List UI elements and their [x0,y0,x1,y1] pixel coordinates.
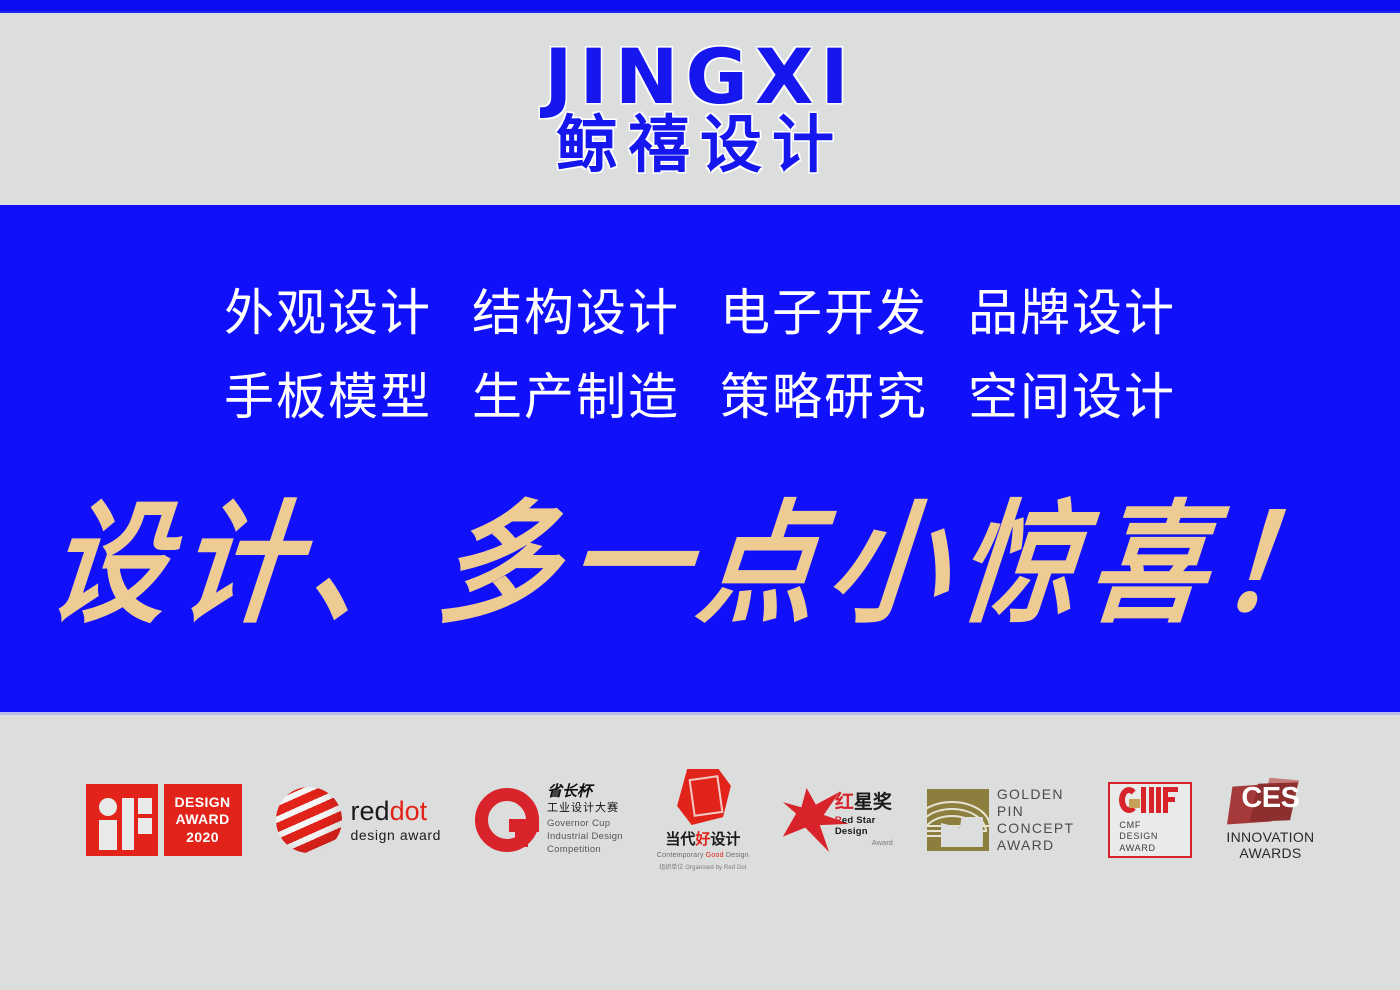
service-item: 电子开发 [720,285,928,343]
if-award-text: DESIGN AWARD 2020 [164,784,242,856]
slogan-block: 设计、多一点小惊喜！ [0,505,1400,623]
governor-cup-cn-title: 省长杯 [547,783,623,801]
cgd-en-c: Design [724,852,749,859]
award-logo-reddot-design-award: reddot design award [276,770,441,870]
award-logo-governor-cup: 省长杯 工业设计大赛 Governor Cup Industrial Desig… [475,770,623,870]
governor-cup-en-1: Governor Cup [547,818,623,831]
governor-cup-en-2: Industrial Design [547,831,623,844]
service-item: 策略研究 [720,369,928,427]
service-item: 手板模型 [224,369,432,427]
cgd-cn-b: 好 [695,831,710,848]
if-line-3: 2020 [186,829,219,846]
ces-line-1: INNOVATION [1226,829,1314,845]
redstar-cn-b: 星奖 [854,792,892,813]
goldenpin-line-4: AWARD [997,837,1075,854]
service-row-2: 手板模型 生产制造 策略研究 空间设计 [224,369,1176,427]
governor-cup-g-icon [475,788,539,852]
main-blue-panel: 外观设计 结构设计 电子开发 品牌设计 手板模型 生产制造 策略研究 空间设计 … [0,205,1400,712]
brand-name-chinese: 鲸禧设计 [556,114,844,176]
service-item: 空间设计 [968,369,1176,427]
reddot-name-dot: dot [390,796,428,826]
brand-name-latin: JINGXI [544,42,855,112]
cgd-seal-icon [675,769,731,825]
service-item: 生产制造 [472,369,680,427]
service-list: 外观设计 结构设计 电子开发 品牌设计 手板模型 生产制造 策略研究 空间设计 [0,285,1400,426]
goldenpin-line-3: CONCEPT [997,820,1075,837]
ces-logo-text: CES [1228,784,1312,813]
redstar-cn-a: 红 [835,792,854,813]
service-item: 结构设计 [472,285,680,343]
slogan-calligraphy: 设计、多一点小惊喜！ [43,498,1357,630]
governor-cup-cn-subtitle: 工业设计大赛 [547,802,623,815]
cmf-monogram-icon [1119,786,1190,814]
redstar-en-a: R [835,815,842,826]
cgd-en-b: Good [706,852,724,859]
service-item: 品牌设计 [968,285,1176,343]
top-blue-rule [0,0,1400,11]
redstar-en-b: ed Star Design [835,815,876,837]
redstar-en-sub: Award [835,839,893,848]
reddot-subtitle: design award [351,828,441,843]
poster-canvas: JINGXI 鲸禧设计 外观设计 结构设计 电子开发 品牌设计 手板模型 生产制… [0,0,1400,990]
cgd-cn-a: 当代 [665,831,695,848]
award-logo-ces-innovation-awards: CES INNOVATION AWARDS [1226,770,1314,870]
brand-header: JINGXI 鲸禧设计 [0,13,1400,205]
award-logo-contemporary-good-design: 当代好设计 Contemporary Good Design 组织单位 Orga… [657,770,749,870]
cmf-line-1: CMF [1119,820,1190,831]
service-item: 外观设计 [224,285,432,343]
service-row-1: 外观设计 结构设计 电子开发 品牌设计 [224,285,1176,343]
cgd-en-a: Contemporary [657,852,706,859]
cgd-organiser-line: 组织单位 Organised by Red Dot [659,862,747,871]
blue-panel-bottom-edge [0,712,1400,715]
ces-line-2: AWARDS [1226,845,1314,861]
goldenpin-line-1: GOLDEN [997,786,1075,803]
award-logo-if-design-award: DESIGN AWARD 2020 [86,770,242,870]
if-line-2: AWARD [175,811,229,828]
golden-pin-square-icon [927,789,989,851]
ces-shards-icon: CES [1228,779,1312,825]
award-logo-cmf-design-award: CMF DESIGN AWARD [1108,770,1192,870]
cmf-line-2: DESIGN AWARD [1119,831,1190,854]
governor-cup-en-3: Competition [547,844,623,857]
award-logo-red-star-design-award: 红星奖 Red Star Design Award [783,770,893,870]
if-monogram-icon [86,784,158,856]
cgd-cn-c: 设计 [710,831,740,848]
reddot-sphere-icon [276,787,342,853]
if-line-1: DESIGN [174,794,230,811]
goldenpin-line-2: PIN [997,803,1075,820]
award-logo-golden-pin-concept-award: GOLDEN PIN CONCEPT AWARD [927,770,1075,870]
awards-strip: DESIGN AWARD 2020 reddot design award [0,755,1400,885]
reddot-name-red: red [351,796,390,826]
